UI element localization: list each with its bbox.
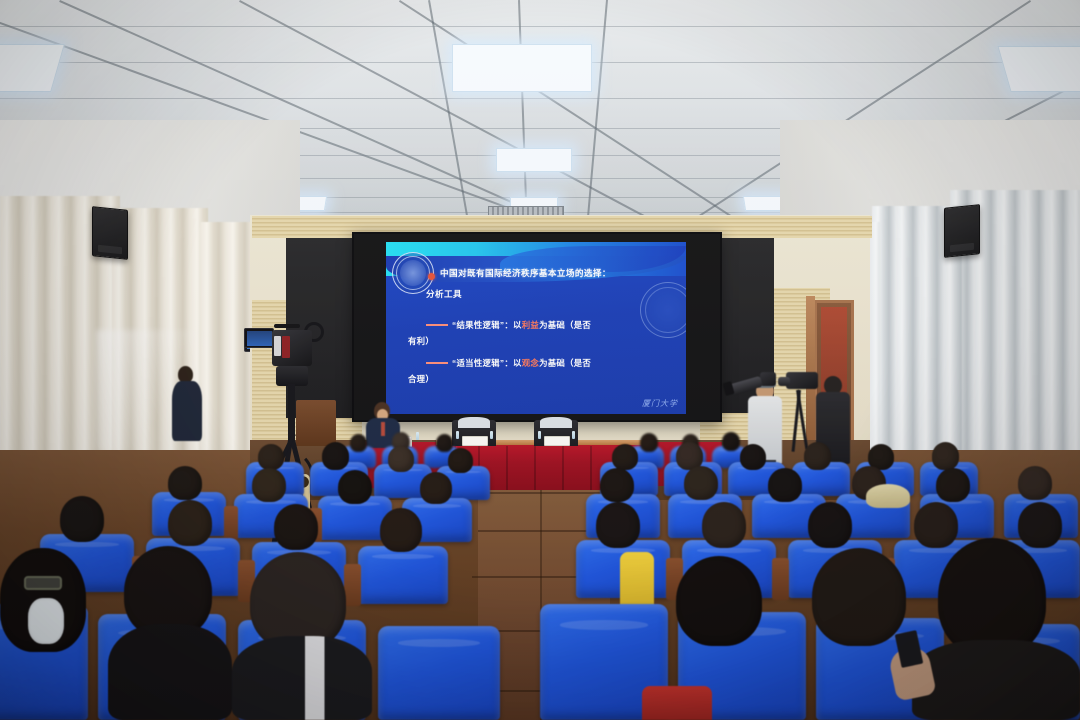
audience-shoulders xyxy=(232,636,372,720)
audience-head-foreground xyxy=(812,548,906,646)
seat xyxy=(378,626,500,720)
slide-bullet-2: “适当性逻辑”：以观念为基础（是否 xyxy=(426,356,676,371)
slide-credit-text: 厦门大学 xyxy=(642,398,678,409)
stage-chair-headrest xyxy=(540,417,572,428)
slide-title-line1: 中国对既有国际经济秩序基本立场的选择： xyxy=(440,266,670,281)
bullet-2-wrap: 合理） xyxy=(408,374,434,384)
audience-head xyxy=(914,502,958,548)
seal-accent-dot xyxy=(428,273,435,280)
ceiling-light xyxy=(0,44,65,92)
audience-shoulders xyxy=(108,624,232,720)
wall-speaker-left xyxy=(92,206,128,260)
table-name-card xyxy=(462,436,488,446)
projection-screen-frame: 中国对既有国际经济秩序基本立场的选择： 分析工具 “结果性逻辑”：以利益为基础（… xyxy=(352,232,722,422)
audience-head xyxy=(436,434,453,452)
floor-plank-line xyxy=(482,492,606,494)
audience-head xyxy=(1018,502,1062,548)
camera-monitor-screen xyxy=(247,331,272,346)
camera-red-accent xyxy=(282,336,290,358)
audience-head xyxy=(702,502,746,548)
eyeglasses-icon xyxy=(24,576,62,590)
bullet-2-tail: 为基础（是否 xyxy=(539,358,591,368)
slide-bullet-1: “结果性逻辑”：以利益为基础（是否 xyxy=(426,318,676,333)
audience-head xyxy=(740,444,766,470)
face-mask-icon xyxy=(28,598,64,644)
auditorium-photo: 中国对既有国际经济秩序基本立场的选择： 分析工具 “结果性逻辑”：以利益为基础（… xyxy=(0,0,1080,720)
audience-head xyxy=(612,444,638,470)
audience-head xyxy=(168,466,202,500)
audience-head xyxy=(258,444,284,470)
audience-head xyxy=(640,433,658,452)
bullet-2-lead: “适当性逻辑”：以 xyxy=(452,358,522,368)
bullet-1-wrap: 有利） xyxy=(408,336,434,346)
audience-head-foreground xyxy=(676,556,762,646)
audience-head xyxy=(350,434,367,452)
audience-head xyxy=(722,432,740,451)
audience-head xyxy=(768,468,802,502)
bullet-dash-icon xyxy=(426,362,448,364)
bullet-1-lead: “结果性逻辑”：以 xyxy=(452,320,522,330)
ceiling-light xyxy=(452,44,592,92)
wall-speaker-right xyxy=(944,204,980,258)
podium xyxy=(296,400,336,446)
audience-head xyxy=(252,468,286,502)
bullet-2-highlight: 观念 xyxy=(522,358,539,368)
audience-head xyxy=(420,472,452,504)
seat xyxy=(358,546,448,604)
camcorder-lens-icon xyxy=(778,377,790,386)
ceiling-light xyxy=(496,148,572,172)
seat-armrest xyxy=(224,506,238,540)
audience-head xyxy=(804,442,831,470)
slide-title-line2: 分析工具 xyxy=(426,288,672,300)
audience-head-foreground xyxy=(938,538,1046,656)
audience-head xyxy=(936,468,970,502)
audience-head xyxy=(274,504,318,550)
water-bottle xyxy=(490,431,493,439)
audience-head xyxy=(684,466,718,500)
attendee-torso xyxy=(172,381,202,441)
audience-head xyxy=(380,508,422,552)
water-bottle xyxy=(416,432,419,440)
audience-head xyxy=(168,500,212,546)
presentation-slide: 中国对既有国际经济秩序基本立场的选择： 分析工具 “结果性逻辑”：以利益为基础（… xyxy=(386,242,686,414)
camera-handle xyxy=(274,324,300,328)
audience-head xyxy=(600,468,634,502)
seat-armrest xyxy=(344,564,361,606)
audience-head xyxy=(808,502,852,548)
audience-head xyxy=(596,502,640,548)
audience-head xyxy=(322,442,349,470)
audience-head xyxy=(932,442,959,470)
audience-head xyxy=(60,496,104,542)
seat-armrest xyxy=(772,558,789,600)
audience-head xyxy=(338,470,372,504)
audience-head xyxy=(1018,466,1052,500)
water-bottle xyxy=(572,431,575,439)
presenter-tie xyxy=(381,422,385,436)
beige-cap-icon xyxy=(866,484,910,508)
tripod-head xyxy=(276,366,308,386)
camera-side-plate xyxy=(274,336,281,356)
water-bottle xyxy=(538,431,541,439)
water-bottle xyxy=(456,431,459,439)
bullet-dash-icon xyxy=(426,324,448,326)
table-name-card xyxy=(544,436,570,446)
audience-head xyxy=(448,448,473,473)
bullet-1-tail: 为基础（是否 xyxy=(539,320,591,330)
attendee-red-clothing xyxy=(642,686,712,720)
bullet-1-highlight: 利益 xyxy=(522,320,539,330)
ceiling-light xyxy=(997,46,1080,92)
audience-head xyxy=(388,446,414,472)
shoulder-camcorder-icon xyxy=(786,372,818,389)
audience-shoulders xyxy=(912,640,1080,720)
stage-chair-headrest xyxy=(458,417,490,428)
camera-flip-monitor xyxy=(244,328,274,348)
slide-bullet-1-wrap: 有利） xyxy=(408,334,658,349)
slide-bullet-2-wrap: 合理） xyxy=(408,372,658,387)
